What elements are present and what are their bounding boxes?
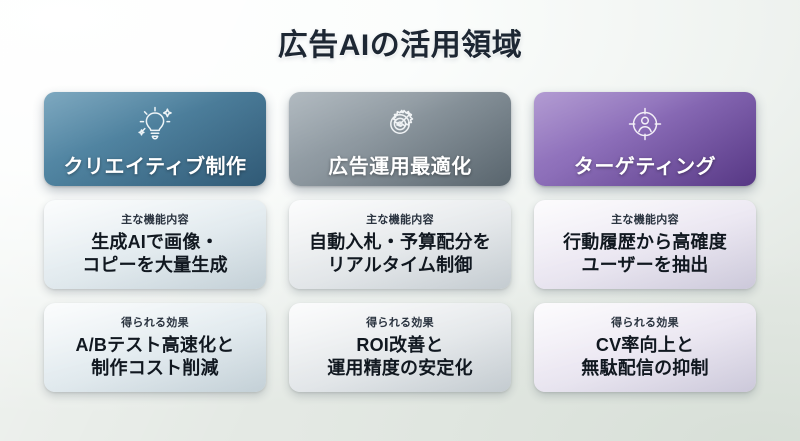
effect-box-creative: 得られる効果 A/Bテスト高速化と 制作コスト削減 bbox=[44, 303, 266, 392]
feature-line: 行動履歴から高確度 bbox=[540, 231, 750, 254]
effect-line: 運用精度の安定化 bbox=[295, 357, 505, 380]
feature-text-targeting: 行動履歴から高確度 ユーザーを抽出 bbox=[540, 231, 750, 277]
feature-label-creative: 主な機能内容 bbox=[50, 211, 260, 227]
effect-line: CV率向上と bbox=[540, 334, 750, 357]
feature-line: リアルタイム制御 bbox=[295, 254, 505, 277]
card-title-creative: クリエイティブ制作 bbox=[64, 150, 247, 179]
column-operation: 広告運用最適化 主な機能内容 自動入札・予算配分を リアルタイム制御 得られる効… bbox=[289, 92, 511, 392]
feature-text-operation: 自動入札・予算配分を リアルタイム制御 bbox=[295, 231, 505, 277]
effect-line: 制作コスト削減 bbox=[50, 357, 260, 380]
feature-box-operation: 主な機能内容 自動入札・予算配分を リアルタイム制御 bbox=[289, 200, 511, 289]
feature-box-targeting: 主な機能内容 行動履歴から高確度 ユーザーを抽出 bbox=[534, 200, 756, 289]
feature-label-operation: 主な機能内容 bbox=[295, 211, 505, 227]
effect-box-operation: 得られる効果 ROI改善と 運用精度の安定化 bbox=[289, 303, 511, 392]
column-creative: クリエイティブ制作 主な機能内容 生成AIで画像・ コピーを大量生成 得られる効… bbox=[44, 92, 266, 392]
columns-container: クリエイティブ制作 主な機能内容 生成AIで画像・ コピーを大量生成 得られる効… bbox=[44, 92, 756, 392]
effect-label-creative: 得られる効果 bbox=[50, 314, 260, 330]
effect-text-operation: ROI改善と 運用精度の安定化 bbox=[295, 334, 505, 380]
crosshair-person-icon bbox=[622, 101, 668, 147]
card-header-targeting[interactable]: ターゲティング bbox=[534, 92, 756, 186]
card-title-operation: 広告運用最適化 bbox=[328, 150, 472, 179]
feature-text-creative: 生成AIで画像・ コピーを大量生成 bbox=[50, 231, 260, 277]
feature-line: 生成AIで画像・ bbox=[50, 231, 260, 254]
gear-target-icon bbox=[377, 101, 423, 147]
card-title-targeting: ターゲティング bbox=[574, 150, 716, 179]
effect-text-targeting: CV率向上と 無駄配信の抑制 bbox=[540, 334, 750, 380]
feature-box-creative: 主な機能内容 生成AIで画像・ コピーを大量生成 bbox=[44, 200, 266, 289]
effect-text-creative: A/Bテスト高速化と 制作コスト削減 bbox=[50, 334, 260, 380]
slide-canvas: 広告AIの活用領域 クリエイティブ制作 主な機能内容 bbox=[0, 0, 800, 441]
feature-label-targeting: 主な機能内容 bbox=[540, 211, 750, 227]
card-header-creative[interactable]: クリエイティブ制作 bbox=[44, 92, 266, 186]
column-targeting: ターゲティング 主な機能内容 行動履歴から高確度 ユーザーを抽出 得られる効果 … bbox=[534, 92, 756, 392]
effect-label-operation: 得られる効果 bbox=[295, 314, 505, 330]
feature-line: 自動入札・予算配分を bbox=[295, 231, 505, 254]
effect-line: ROI改善と bbox=[295, 334, 505, 357]
effect-line: 無駄配信の抑制 bbox=[540, 357, 750, 380]
effect-line: A/Bテスト高速化と bbox=[50, 334, 260, 357]
page-title: 広告AIの活用領域 bbox=[0, 20, 800, 64]
effect-box-targeting: 得られる効果 CV率向上と 無駄配信の抑制 bbox=[534, 303, 756, 392]
feature-line: コピーを大量生成 bbox=[50, 254, 260, 277]
lightbulb-sparkle-icon bbox=[131, 101, 179, 147]
feature-line: ユーザーを抽出 bbox=[540, 254, 750, 277]
effect-label-targeting: 得られる効果 bbox=[540, 314, 750, 330]
card-header-operation[interactable]: 広告運用最適化 bbox=[289, 92, 511, 186]
